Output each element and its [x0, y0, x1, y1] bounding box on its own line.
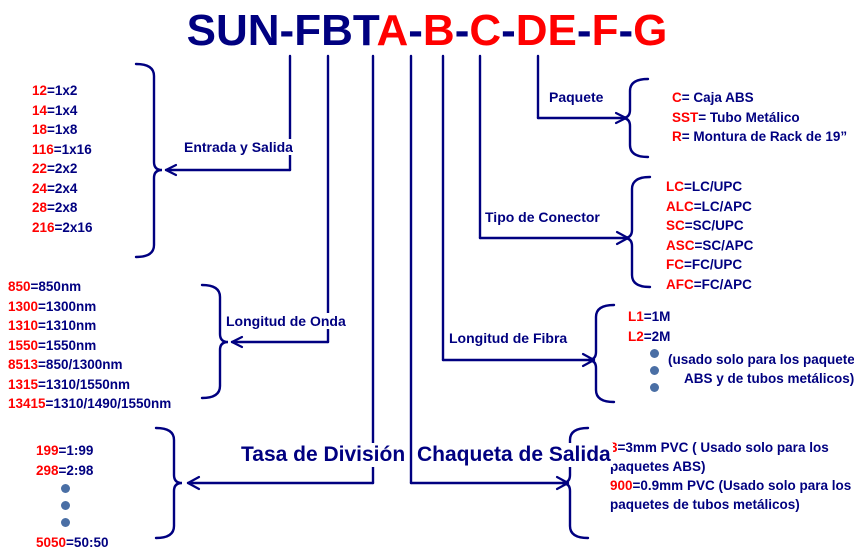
list-item: L1=1M	[628, 307, 670, 327]
brace-longitud-fibra	[588, 305, 614, 402]
code: 13415	[8, 396, 46, 411]
value: =LC/APC	[694, 199, 752, 214]
list-item: 1315=1310/1550nm	[8, 375, 171, 395]
code: 199	[36, 443, 59, 458]
value: = Montura de Rack de 19”	[682, 129, 847, 144]
code: 216	[32, 220, 55, 235]
list-item: 14=1x4	[32, 101, 92, 121]
list-item: 24=2x4	[32, 179, 92, 199]
title-sep-4: -	[577, 6, 592, 55]
value: =SC/UPC	[685, 218, 744, 233]
value: =1300nm	[38, 299, 96, 314]
value: =850/1300nm	[38, 357, 122, 372]
value: =1:99	[59, 443, 94, 458]
list-longitud-onda: 850=850nm 1300=1300nm 1310=1310nm 1550=1…	[8, 277, 171, 414]
value: =1x16	[54, 142, 92, 157]
title-letter-g: G	[633, 6, 667, 55]
list-item: 28=2x8	[32, 198, 92, 218]
code: 12	[32, 83, 47, 98]
title-sep-2: -	[455, 6, 470, 55]
value-line-1: =0.9mm PVC (Usado solo para los	[633, 478, 852, 493]
note-line-1: (usado solo para los paquetes	[668, 350, 854, 369]
value: =2x2	[47, 161, 77, 176]
list-item: 12=1x2	[32, 81, 92, 101]
title-sep-5: -	[618, 6, 633, 55]
code: SC	[666, 218, 685, 233]
list-item: 1300=1300nm	[8, 297, 171, 317]
value: =1550nm	[38, 338, 96, 353]
list-item: 5050=50:50	[36, 533, 108, 553]
value: =SC/APC	[695, 238, 754, 253]
arrowhead-conector	[617, 232, 628, 244]
label-tipo-conector: Tipo de Conector	[483, 209, 602, 225]
code: 18	[32, 122, 47, 137]
code: 22	[32, 161, 47, 176]
code: 900	[610, 478, 633, 493]
diagram-canvas: SUN-FBTA-B-C-DE-F-G	[0, 0, 854, 553]
value-line-2: paquetes de tubos metálicos)	[610, 495, 854, 514]
list-item: 199=1:99	[36, 441, 93, 461]
label-longitud-fibra: Longitud de Fibra	[447, 330, 569, 346]
list-item: L2=2M	[628, 327, 670, 347]
list-item: 1310=1310nm	[8, 316, 171, 336]
code: 1550	[8, 338, 38, 353]
code: 28	[32, 200, 47, 215]
list-item: 298=2:98	[36, 461, 93, 481]
value: = Tubo Metálico	[698, 110, 799, 125]
bullet-dot	[61, 518, 70, 527]
list-item: ASC=SC/APC	[666, 236, 753, 256]
ellipsis-dots-fibra	[650, 349, 659, 400]
code: 5050	[36, 535, 66, 550]
note-chaqueta-salida: 3=3mm PVC ( Usado solo para los paquetes…	[610, 438, 854, 514]
bullet-dot	[61, 501, 70, 510]
code: AFC	[666, 277, 694, 292]
code: 1300	[8, 299, 38, 314]
code: ASC	[666, 238, 695, 253]
value-line-1: =3mm PVC ( Usado solo para los	[618, 440, 829, 455]
code: LC	[666, 179, 684, 194]
code: 298	[36, 463, 59, 478]
list-longitud-fibra: L1=1M L2=2M	[628, 307, 670, 346]
brace-paquete	[622, 79, 648, 157]
list-item: C= Caja ABS	[672, 88, 847, 108]
value: =1x2	[47, 83, 77, 98]
value: =2M	[644, 329, 671, 344]
label-longitud-onda: Longitud de Onda	[224, 313, 348, 329]
label-tasa-division: Tasa de División	[239, 443, 407, 467]
title-sep-3: -	[501, 6, 516, 55]
page-title: SUN-FBTA-B-C-DE-F-G	[0, 6, 854, 56]
bullet-dot	[650, 349, 659, 358]
list-item: SST= Tubo Metálico	[672, 108, 847, 128]
code: 850	[8, 279, 31, 294]
value: =1310/1490/1550nm	[46, 396, 172, 411]
list-item: 18=1x8	[32, 120, 92, 140]
note-line-2: ABS y de tubos metálicos)	[668, 369, 854, 388]
list-item: 1550=1550nm	[8, 336, 171, 356]
list-item: 8513=850/1300nm	[8, 355, 171, 375]
value-line-2: paquetes ABS)	[610, 457, 854, 476]
arrowhead-fibra	[583, 354, 594, 366]
value: = Caja ABS	[682, 90, 754, 105]
note-longitud-fibra: (usado solo para los paquetes ABS y de t…	[668, 350, 854, 388]
brace-tasa-division	[156, 428, 182, 538]
value: =FC/UPC	[684, 257, 742, 272]
value: =1310nm	[38, 318, 96, 333]
list-item: 850=850nm	[8, 277, 171, 297]
code: R	[672, 129, 682, 144]
value: =LC/UPC	[684, 179, 742, 194]
code: 1315	[8, 377, 38, 392]
list-tasa-division-bottom: 5050=50:50	[36, 533, 108, 553]
bullet-dot	[650, 383, 659, 392]
value: =2:98	[59, 463, 94, 478]
brace-longitud-onda	[202, 285, 228, 398]
arrowhead-paquete	[616, 113, 626, 123]
value: =2x4	[47, 181, 77, 196]
value: =2x16	[55, 220, 93, 235]
bullet-dot	[650, 366, 659, 375]
code: 14	[32, 103, 47, 118]
value: =1M	[644, 309, 671, 324]
list-item: R= Montura de Rack de 19”	[672, 127, 847, 147]
list-item: ALC=LC/APC	[666, 197, 753, 217]
code: 1310	[8, 318, 38, 333]
list-tipo-conector: LC=LC/UPC ALC=LC/APC SC=SC/UPC ASC=SC/AP…	[666, 177, 753, 294]
title-letter-a: A	[376, 6, 408, 55]
arrowhead-tasa	[188, 477, 199, 489]
list-item: 216=2x16	[32, 218, 92, 238]
list-item: LC=LC/UPC	[666, 177, 753, 197]
ellipsis-dots-tasa	[61, 484, 70, 535]
code: L1	[628, 309, 644, 324]
value: =50:50	[66, 535, 108, 550]
chaqueta-entry-1: 3=3mm PVC ( Usado solo para los paquetes…	[610, 438, 854, 476]
code: ALC	[666, 199, 694, 214]
value: =2x8	[47, 200, 77, 215]
arrowhead-chaqueta	[557, 477, 568, 489]
list-paquete: C= Caja ABS SST= Tubo Metálico R= Montur…	[672, 88, 847, 147]
brace-tipo-conector	[624, 177, 650, 287]
arrowhead-onda	[232, 337, 242, 347]
bullet-dot	[61, 484, 70, 493]
code: 116	[32, 142, 54, 157]
list-item: FC=FC/UPC	[666, 255, 753, 275]
code: L2	[628, 329, 644, 344]
code: SST	[672, 110, 698, 125]
list-item: SC=SC/UPC	[666, 216, 753, 236]
value: =FC/APC	[694, 277, 752, 292]
title-sep-1: -	[408, 6, 423, 55]
label-paquete: Paquete	[547, 89, 605, 105]
chaqueta-entry-2: 900=0.9mm PVC (Usado solo para los paque…	[610, 476, 854, 514]
value: =850nm	[31, 279, 82, 294]
title-letter-de: DE	[516, 6, 577, 55]
list-item: 13415=1310/1490/1550nm	[8, 394, 171, 414]
code: C	[672, 90, 682, 105]
value: =1x8	[47, 122, 77, 137]
list-item: 116=1x16	[32, 140, 92, 160]
code: FC	[666, 257, 684, 272]
label-chaqueta-salida: Chaqueta de Salida	[415, 443, 613, 467]
list-item: 22=2x2	[32, 159, 92, 179]
brace-entrada-salida	[136, 64, 162, 257]
label-entrada-salida: Entrada y Salida	[182, 139, 295, 155]
list-entrada-salida: 12=1x2 14=1x4 18=1x8 116=1x16 22=2x2 24=…	[32, 81, 92, 237]
arrowhead-entrada	[166, 165, 176, 175]
code: 24	[32, 181, 47, 196]
title-letter-c: C	[469, 6, 501, 55]
list-item: AFC=FC/APC	[666, 275, 753, 295]
title-letter-f: F	[592, 6, 619, 55]
list-tasa-division-top: 199=1:99 298=2:98	[36, 441, 93, 480]
code: 8513	[8, 357, 38, 372]
title-prefix: SUN-FBT	[187, 6, 377, 55]
value: =1x4	[47, 103, 77, 118]
value: =1310/1550nm	[38, 377, 130, 392]
title-letter-b: B	[423, 6, 455, 55]
